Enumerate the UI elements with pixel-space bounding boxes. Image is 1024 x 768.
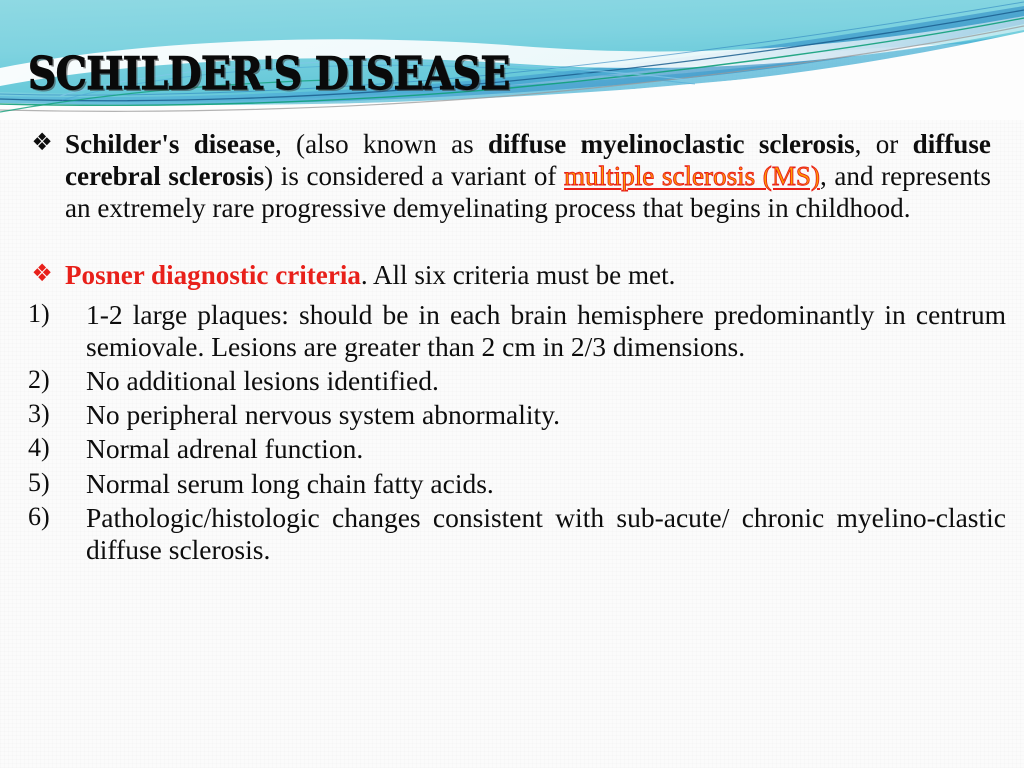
list-item-line: Pathologic/histologic changes consistent… [86, 502, 729, 533]
list-item-number: 6) [28, 502, 74, 532]
presentation-slide: Schilder's disease ❖Schilder's disease, … [0, 0, 1024, 768]
list-item-line: Normal serum long chain fatty acids. [86, 468, 494, 499]
criteria-list: 1) 1-2 large plaques: should be in each … [0, 299, 1024, 566]
definition-text-3: ) is considered a variant [264, 160, 526, 191]
list-item-number: 2) [28, 365, 74, 395]
multiple-sclerosis-link[interactable]: multiple sclerosis (MS) [564, 160, 820, 191]
diamond-bullet-icon-red: ❖ [32, 258, 53, 289]
posner-heading-rest: . All six criteria must be met. [361, 259, 675, 290]
diamond-bullet-icon: ❖ [32, 127, 53, 158]
list-item: 6) Pathologic/histologic changes consist… [0, 502, 1024, 566]
list-item-line: No additional lesions identified. [86, 365, 439, 396]
definition-text-1: , (also known as [275, 128, 488, 159]
slide-body: ❖Schilder's disease, (also known as diff… [0, 120, 1024, 768]
list-item: 1) 1-2 large plaques: should be in each … [0, 299, 1024, 363]
list-item-number: 4) [28, 433, 74, 463]
list-item-number: 3) [28, 399, 74, 429]
term-schilders-disease: Schilder's disease [65, 128, 275, 159]
page-title: Schilder's disease [28, 52, 510, 97]
list-item: 2) No additional lesions identified. [0, 365, 1024, 397]
list-item-line: Normal adrenal function. [86, 433, 363, 464]
list-item: 5) Normal serum long chain fatty acids. [0, 468, 1024, 500]
posner-heading-label: Posner diagnostic criteria [65, 259, 361, 290]
list-item-line: 1-2 large plaques: should be in each bra… [86, 299, 704, 330]
list-item: 3) No peripheral nervous system abnormal… [0, 399, 1024, 431]
list-item: 4) Normal adrenal function. [0, 433, 1024, 465]
posner-criteria-heading: ❖Posner diagnostic criteria. All six cri… [0, 259, 1009, 291]
list-item-number: 1) [28, 299, 74, 329]
term-sclerosis-cont: sclerosis [759, 128, 855, 159]
term-diffuse-myelinoclastic-sclerosis: diffuse myelinoclastic [488, 128, 745, 159]
list-item-line: 2 cm in 2/3 dimensions. [482, 331, 746, 362]
list-item-number: 5) [28, 468, 74, 498]
title-container: Schilder's disease [28, 52, 546, 94]
definition-text-2: , or [855, 128, 913, 159]
definition-text-6: progressive demyelinating process that b… [261, 192, 910, 223]
definition-text-4: of [534, 160, 564, 191]
definition-paragraph: ❖Schilder's disease, (also known as diff… [0, 128, 1009, 225]
list-item-line: No peripheral nervous system abnormality… [86, 399, 560, 430]
